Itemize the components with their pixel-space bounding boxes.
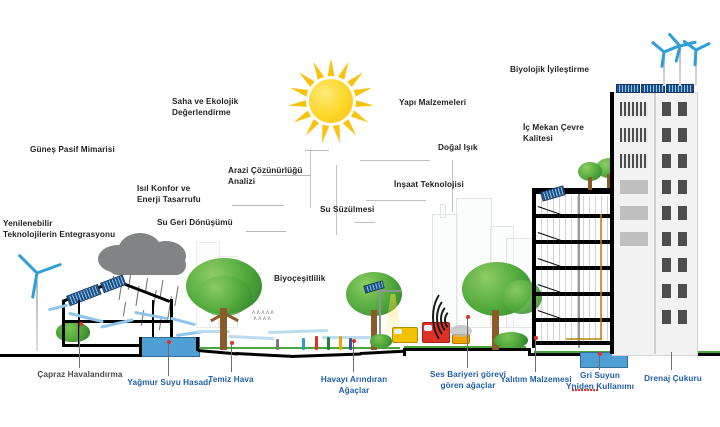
label-arazi-cozunurlugu-analizi: Arazi Çözünürlüğü Analizi (228, 166, 302, 187)
label-yenilenebilir-teknolojiler: Yenilenebilir Teknolojilerin Entegrasyon… (3, 219, 115, 240)
leader-drenaj (671, 352, 672, 370)
label-temiz-hava: Temiz Hava (196, 375, 266, 386)
birds-icon: ʌ ʌ ʌ ʌ ʌ ʌ ʌ ʌ ʌ (252, 310, 312, 328)
sun-icon (288, 58, 374, 144)
leader-temiz-hava (231, 344, 232, 372)
leader-yalitim (535, 340, 536, 372)
label-su-suzulmesi: Su Süzülmesi (320, 205, 374, 216)
label-drenaj-cukuru: Drenaj Çukuru (636, 374, 710, 385)
leader-havayi-arindiran (353, 342, 354, 372)
label-isil-konfor-enerji-tasarrufu: Isıl Konfor ve Enerji Tasarrufu (137, 184, 201, 205)
wind-turbine-icon (686, 50, 706, 86)
label-biyocesitlilik: Biyoçeşitlilik (274, 274, 325, 285)
wind-turbine-icon (14, 273, 60, 351)
label-yapi-malzemeleri: Yapı Malzemeleri (399, 98, 466, 109)
leader-capraz (79, 326, 80, 368)
tree-icon (186, 258, 262, 350)
label-saha-ve-ekolojik-degerlendirme: Saha ve Ekolojik Değerlendirme (172, 97, 238, 118)
label-insaat-teknolojisi: İnşaat Teknolojisi (394, 180, 464, 191)
label-havayi-arindiran-agaclar: Havayı Arındıran Ağaçlar (308, 375, 400, 396)
label-dogal-isik: Doğal Işık (438, 143, 478, 154)
leader-gri-suyun (599, 356, 600, 370)
spellcheck-underline (572, 389, 598, 391)
label-su-geri-donusumu: Su Geri Dönüşümü (157, 218, 233, 229)
label-gunes-pasif-mimarisi: Güneş Pasif Mimarisi (30, 145, 115, 156)
label-biyolojik-iyilestirme: Biyolojik İyileştirme (510, 65, 589, 76)
tree-icon (578, 162, 602, 192)
infographic-canvas: ʌ ʌ ʌ ʌ ʌ ʌ ʌ ʌ ʌ (0, 0, 720, 427)
label-ic-mekan-cevre-kalitesi: İç Mekan Çevre Kalitesi (523, 123, 584, 144)
label-yalitim-malzemesi: Yalıtım Malzemesi (497, 375, 575, 386)
leader-yagmur (168, 344, 169, 376)
leader-ses-bariyeri (467, 318, 468, 368)
